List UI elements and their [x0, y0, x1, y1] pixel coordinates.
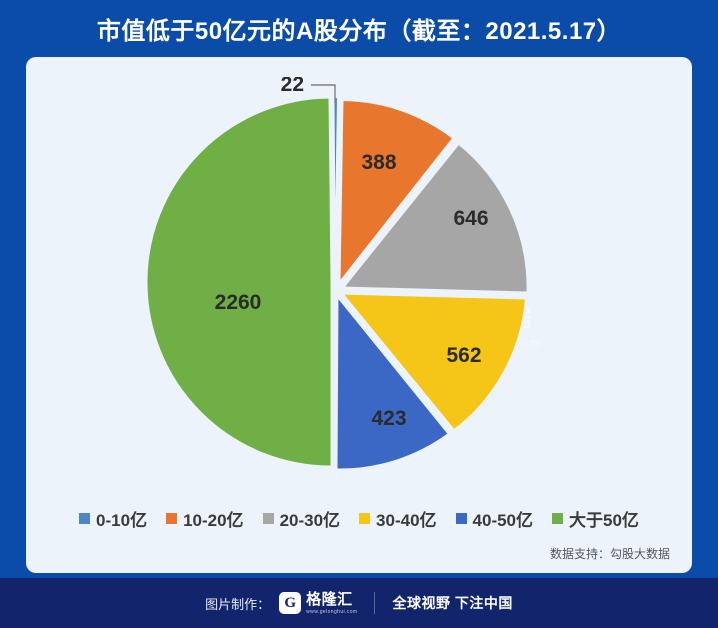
legend-item-20-30[interactable]: 20-30亿: [263, 506, 340, 531]
footer-brand-logo: G 格隆汇 www.gelonghui.com: [279, 592, 357, 615]
footer-divider: [374, 592, 375, 614]
pie-svg: 22 388 646 562 423 2260: [136, 77, 556, 487]
pie-chart-area: G 格隆汇 www.gelonghui.com 勾股大数据 www.goguda…: [26, 57, 692, 487]
legend-swatch-icon: [263, 513, 274, 524]
legend-swatch-icon: [552, 513, 563, 524]
gelonghui-logo-icon: G: [279, 592, 301, 614]
legend-item-over-50[interactable]: 大于50亿: [552, 506, 639, 531]
chart-card: G 格隆汇 www.gelonghui.com 勾股大数据 www.goguda…: [26, 57, 692, 573]
legend-swatch-icon: [456, 513, 467, 524]
legend-swatch-icon: [166, 513, 177, 524]
legend-label: 10-20亿: [183, 506, 243, 531]
pie-label-20-30: 646: [453, 207, 488, 230]
pie-slices: [146, 97, 528, 470]
legend-item-0-10[interactable]: 0-10亿: [79, 506, 147, 531]
pie-label-30-40: 562: [446, 344, 481, 367]
legend-item-40-50[interactable]: 40-50亿: [456, 506, 533, 531]
chart-title: 市值低于50亿元的A股分布（截至：2021.5.17）: [97, 11, 621, 46]
footer-made-by-label: 图片制作：: [205, 594, 270, 613]
legend-label: 30-40亿: [376, 506, 436, 531]
footer-slogan: 全球视野 下注中国: [392, 593, 512, 613]
footer-brand-name: 格隆汇: [306, 591, 353, 608]
legend-label: 40-50亿: [473, 506, 533, 531]
legend-item-30-40[interactable]: 30-40亿: [359, 506, 436, 531]
legend-swatch-icon: [79, 513, 90, 524]
chart-legend: 0-10亿 10-20亿 20-30亿 30-40亿 40-50亿 大于50亿: [26, 497, 692, 539]
legend-item-10-20[interactable]: 10-20亿: [166, 506, 243, 531]
pie-slice-over-50: [146, 97, 332, 467]
footer-brand-url: www.gelonghui.com: [306, 610, 357, 615]
footer-bar: 图片制作： G 格隆汇 www.gelonghui.com 全球视野 下注中国: [0, 578, 718, 628]
chart-frame: 市值低于50亿元的A股分布（截至：2021.5.17） G 格隆汇 www.ge…: [0, 0, 718, 628]
pie-label-10-20: 388: [361, 151, 396, 174]
legend-label: 大于50亿: [569, 506, 639, 531]
source-note: 数据支持：勾股大数据: [550, 545, 670, 562]
pie-label-over-50: 2260: [215, 291, 262, 314]
pie-slice-0-10: [334, 97, 339, 282]
legend-swatch-icon: [359, 513, 370, 524]
title-bar: 市值低于50亿元的A股分布（截至：2021.5.17）: [0, 0, 718, 56]
pie-label-0-10: 22: [281, 77, 304, 96]
pie-label-40-50: 423: [371, 407, 406, 430]
legend-label: 20-30亿: [280, 506, 340, 531]
legend-label: 0-10亿: [96, 506, 147, 531]
